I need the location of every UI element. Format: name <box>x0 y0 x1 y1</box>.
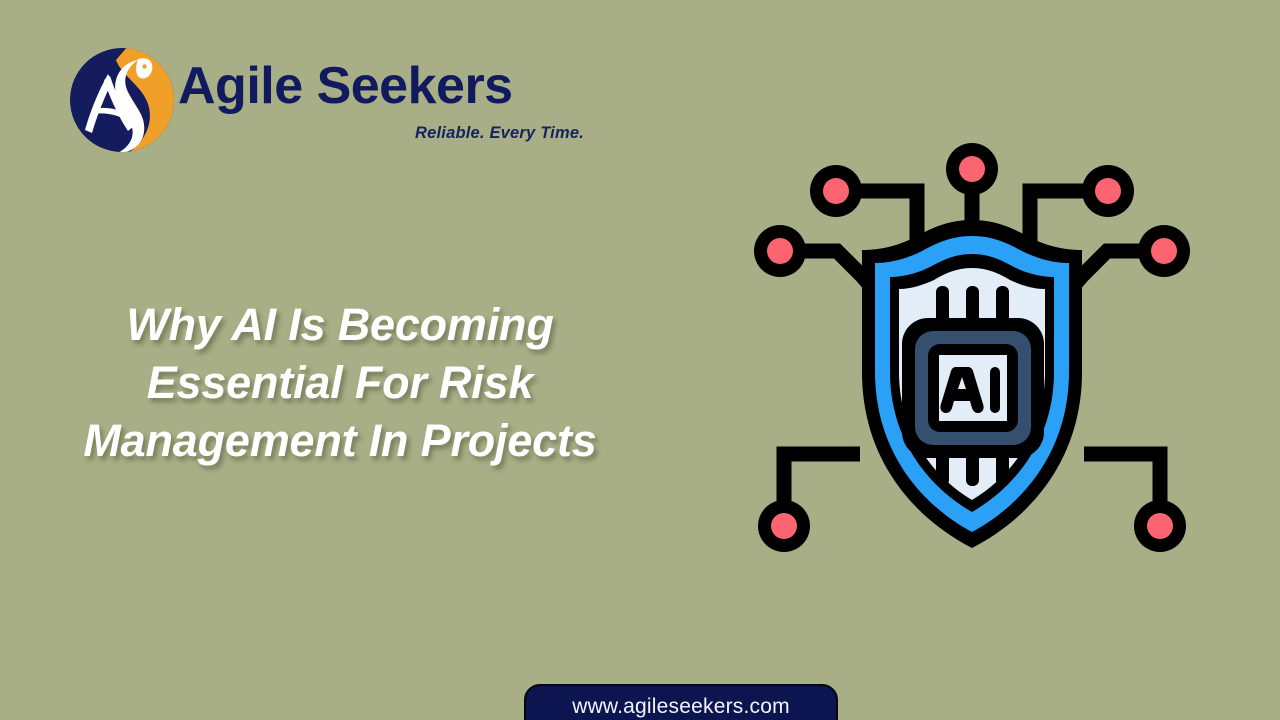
node-mid-right <box>1138 225 1190 277</box>
node-upper-right <box>1082 165 1134 217</box>
headline-line-3: Management In Projects <box>30 412 650 470</box>
brand-name: Agile Seekers <box>178 60 513 112</box>
poster-headline: Why AI Is Becoming Essential For Risk Ma… <box>30 296 650 470</box>
node-mid-left <box>754 225 806 277</box>
ai-security-shield-icon <box>742 136 1202 584</box>
node-bottom-left <box>758 500 810 552</box>
headline-line-1: Why AI Is Becoming <box>30 296 650 354</box>
website-url-text: www.agileseekers.com <box>572 692 790 717</box>
agile-seekers-mark-icon <box>68 46 176 154</box>
node-bottom-right <box>1134 500 1186 552</box>
poster-canvas: Agile Seekers Reliable. Every Time. Why … <box>0 0 1280 720</box>
brand-logo[interactable]: Agile Seekers Reliable. Every Time. <box>68 44 538 156</box>
brand-tagline: Reliable. Every Time. <box>358 124 584 143</box>
headline-line-2: Essential For Risk <box>30 354 650 412</box>
website-url-pill[interactable]: www.agileseekers.com <box>524 684 838 720</box>
node-top-center <box>946 143 998 195</box>
node-upper-left <box>810 165 862 217</box>
